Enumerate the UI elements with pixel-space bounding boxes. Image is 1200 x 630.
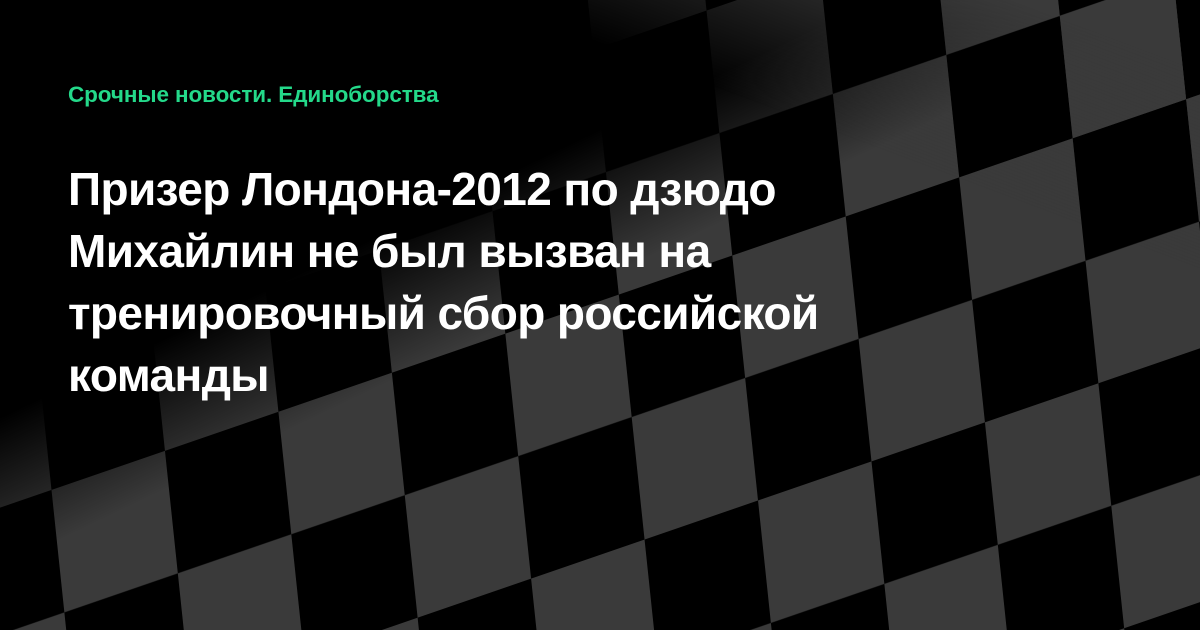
- page-title: Призер Лондона-2012 по дзюдо Михайлин не…: [68, 158, 968, 406]
- kicker-label: Срочные новости. Единоборства: [68, 80, 439, 110]
- card-text-content: Срочные новости. Единоборства Призер Лон…: [0, 0, 1200, 630]
- news-preview-card: Срочные новости. Единоборства Призер Лон…: [0, 0, 1200, 630]
- headline-line: Михайлин не был вызван на: [68, 220, 968, 282]
- headline-line: Призер Лондона-2012 по дзюдо: [68, 158, 968, 220]
- headline-line: команды: [68, 344, 968, 406]
- headline-line: тренировочный сбор российской: [68, 282, 968, 344]
